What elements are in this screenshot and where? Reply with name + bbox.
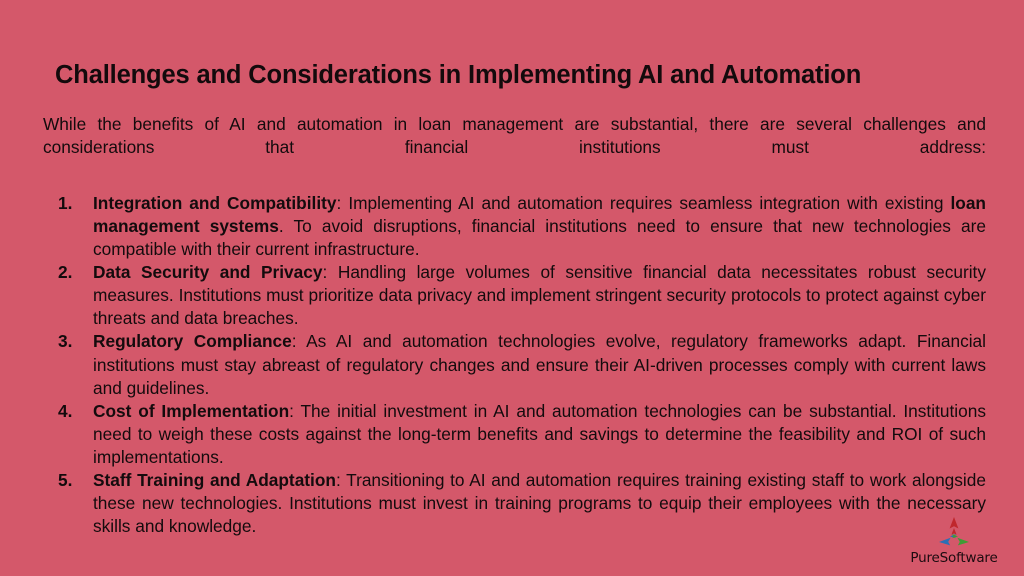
puresoftware-wordmark: PureSoftware — [906, 550, 1002, 566]
list-item-lead: Data Security and Privacy — [93, 262, 323, 282]
puresoftware-logo: PureSoftware — [906, 516, 1002, 568]
list-item: Data Security and Privacy: Handling larg… — [43, 261, 986, 330]
puresoftware-arrows-icon — [937, 516, 971, 546]
list-item-lead: Regulatory Compliance — [93, 331, 292, 351]
challenges-list: Integration and Compatibility: Implement… — [43, 192, 986, 538]
list-item-lead: Staff Training and Adaptation — [93, 470, 336, 490]
list-item: Cost of Implementation: The initial inve… — [43, 400, 986, 469]
intro-paragraph: While the benefits of AI and automation … — [43, 113, 986, 182]
page-title: Challenges and Considerations in Impleme… — [55, 61, 985, 90]
list-item-colon: : — [289, 401, 300, 421]
list-item-colon: : — [336, 470, 346, 490]
list-item-body-1: Implementing AI and automation requires … — [348, 193, 950, 213]
list-item-colon: : — [337, 193, 349, 213]
list-item: Integration and Compatibility: Implement… — [43, 192, 986, 261]
list-item-colon: : — [323, 262, 338, 282]
list-item-lead: Integration and Compatibility — [93, 193, 337, 213]
slide-canvas: Challenges and Considerations in Impleme… — [0, 0, 1024, 576]
slide-body: While the benefits of AI and automation … — [43, 113, 986, 538]
list-item-colon: : — [292, 331, 306, 351]
list-item: Staff Training and Adaptation: Transitio… — [43, 469, 986, 538]
list-item-lead: Cost of Implementation — [93, 401, 289, 421]
list-item: Regulatory Compliance: As AI and automat… — [43, 330, 986, 399]
